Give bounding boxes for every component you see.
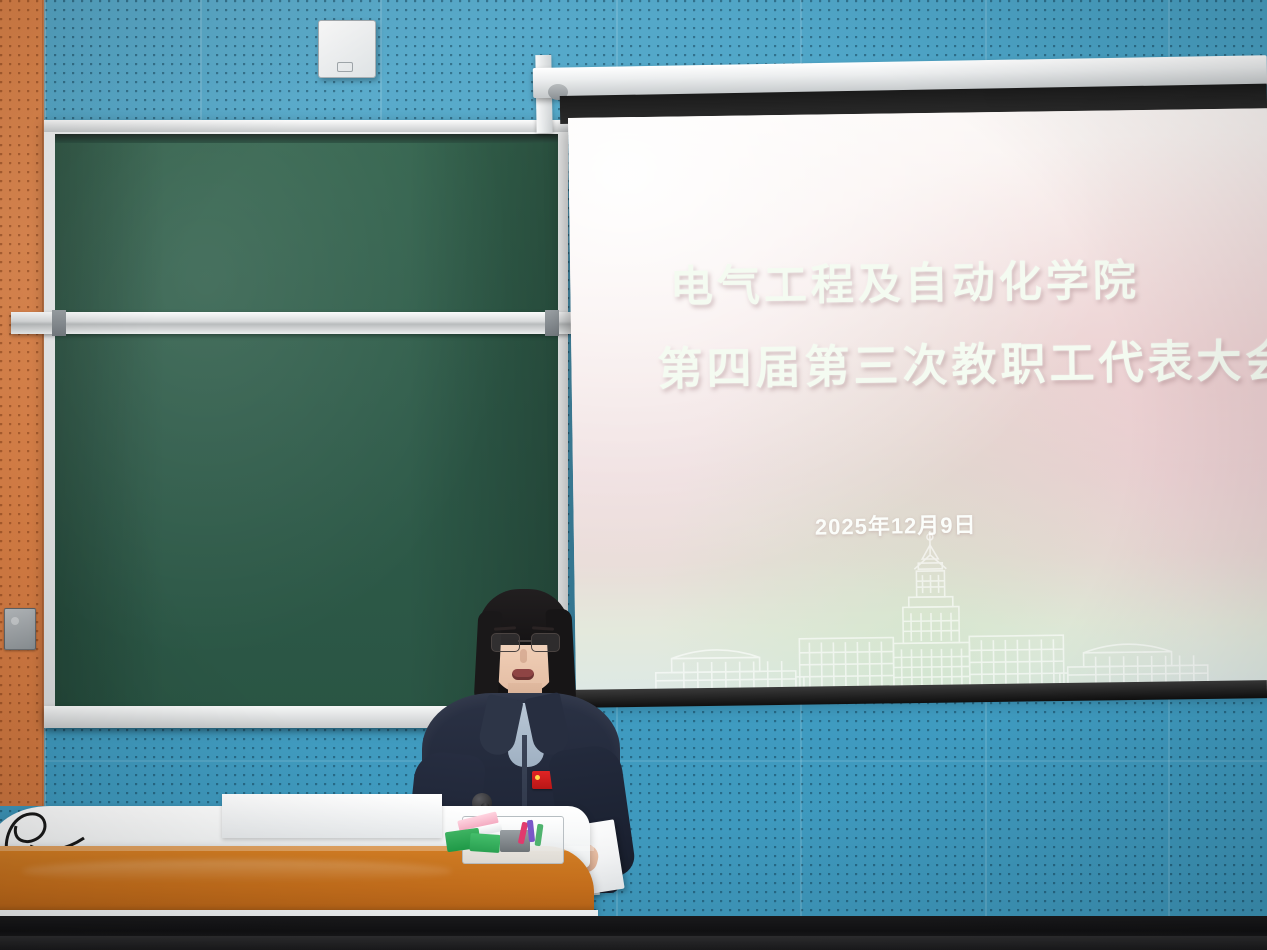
chalk-rail-endcap bbox=[545, 310, 559, 336]
podium-front-panel bbox=[222, 794, 442, 838]
desk-highlight bbox=[22, 860, 452, 882]
glasses-lens-right bbox=[531, 633, 560, 652]
wall-speaker-box bbox=[318, 20, 376, 78]
glasses-lens-left bbox=[491, 633, 520, 652]
photo-scene: 电气工程及自动化学院 第四届第三次教职工代表大会 2025年12月9日 bbox=[0, 0, 1267, 950]
slide-title-line2: 第四届第三次教职工代表大会 bbox=[571, 338, 1267, 393]
acoustic-panel-orange bbox=[0, 0, 44, 806]
panel-seam bbox=[380, 0, 382, 120]
glasses-bridge bbox=[518, 640, 531, 642]
projection-screen: 电气工程及自动化学院 第四届第三次教职工代表大会 2025年12月9日 bbox=[568, 108, 1267, 700]
mouth bbox=[512, 669, 534, 680]
panel-seam bbox=[200, 0, 202, 120]
speaker-grille-icon bbox=[337, 62, 353, 72]
floor bbox=[0, 936, 1267, 950]
chalk-tray bbox=[442, 804, 572, 866]
nose bbox=[520, 649, 527, 663]
electrical-wall-plate bbox=[4, 608, 36, 650]
blackboard-top-shadow bbox=[55, 134, 558, 143]
perforation-texture bbox=[0, 0, 44, 806]
hair-left bbox=[474, 610, 503, 705]
chalk-rail-endcap bbox=[52, 310, 66, 336]
university-main-building-icon bbox=[629, 525, 1231, 693]
green-eraser bbox=[469, 833, 500, 853]
glasses-icon bbox=[490, 633, 560, 651]
